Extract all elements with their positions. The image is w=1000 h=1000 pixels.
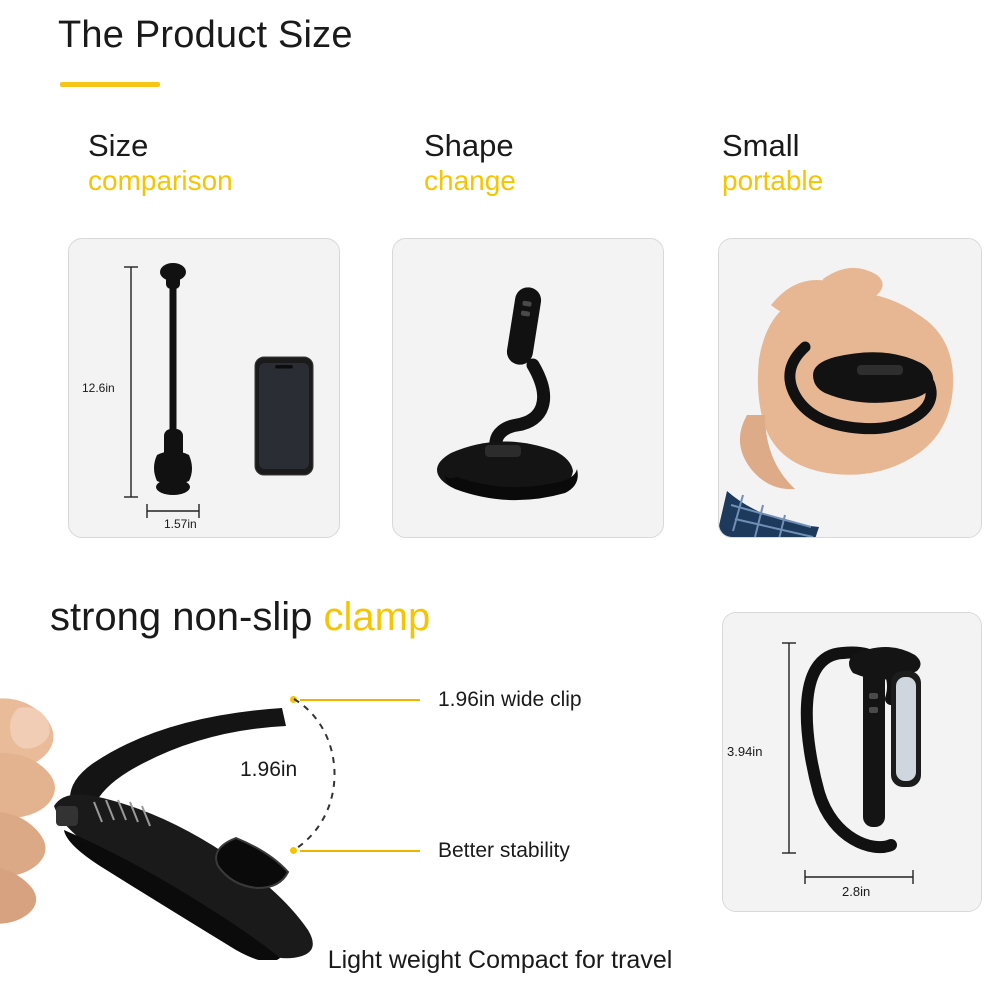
column-heading-small: Small portable [722, 128, 823, 198]
product-size-infographic: The Product Size Size comparison Shape c… [0, 0, 1000, 1000]
column-heading-shape-line2: change [424, 164, 516, 198]
clamp-section-title: strong non-slip clamp [50, 595, 430, 640]
size-dimension-height-label: 12.6in [82, 381, 115, 395]
column-heading-shape: Shape change [424, 128, 516, 198]
callout-label-wide-clip: 1.96in wide clip [438, 688, 582, 712]
shape-change-illustration [393, 239, 664, 538]
column-heading-shape-line1: Shape [424, 128, 516, 164]
clamp-title-plain: strong non-slip [50, 595, 323, 639]
shape-change-photo [392, 238, 664, 538]
page-title: The Product Size [58, 14, 353, 57]
column-heading-size-line1: Size [88, 128, 233, 164]
column-heading-small-line2: portable [722, 164, 823, 198]
size-dimension-width-label: 1.57in [164, 517, 197, 531]
folded-dimensions-illustration [723, 613, 982, 912]
title-underline-rule [60, 82, 160, 87]
small-portable-photo [718, 238, 982, 538]
column-heading-small-line1: Small [722, 128, 823, 164]
arc-dimension-label: 1.96in [240, 758, 297, 782]
clamp-title-highlight: clamp [323, 595, 430, 639]
folded-dimension-width-label: 2.8in [842, 884, 870, 899]
folded-dimension-height-label: 3.94in [727, 744, 762, 759]
folded-dimensions-photo [722, 612, 982, 912]
footer-note: Light weight Compact for travel [0, 946, 1000, 975]
column-heading-size: Size comparison [88, 128, 233, 198]
column-heading-size-line2: comparison [88, 164, 233, 198]
hand-holding-lamp-illustration [719, 239, 982, 538]
callout-label-better-stability: Better stability [438, 839, 570, 863]
